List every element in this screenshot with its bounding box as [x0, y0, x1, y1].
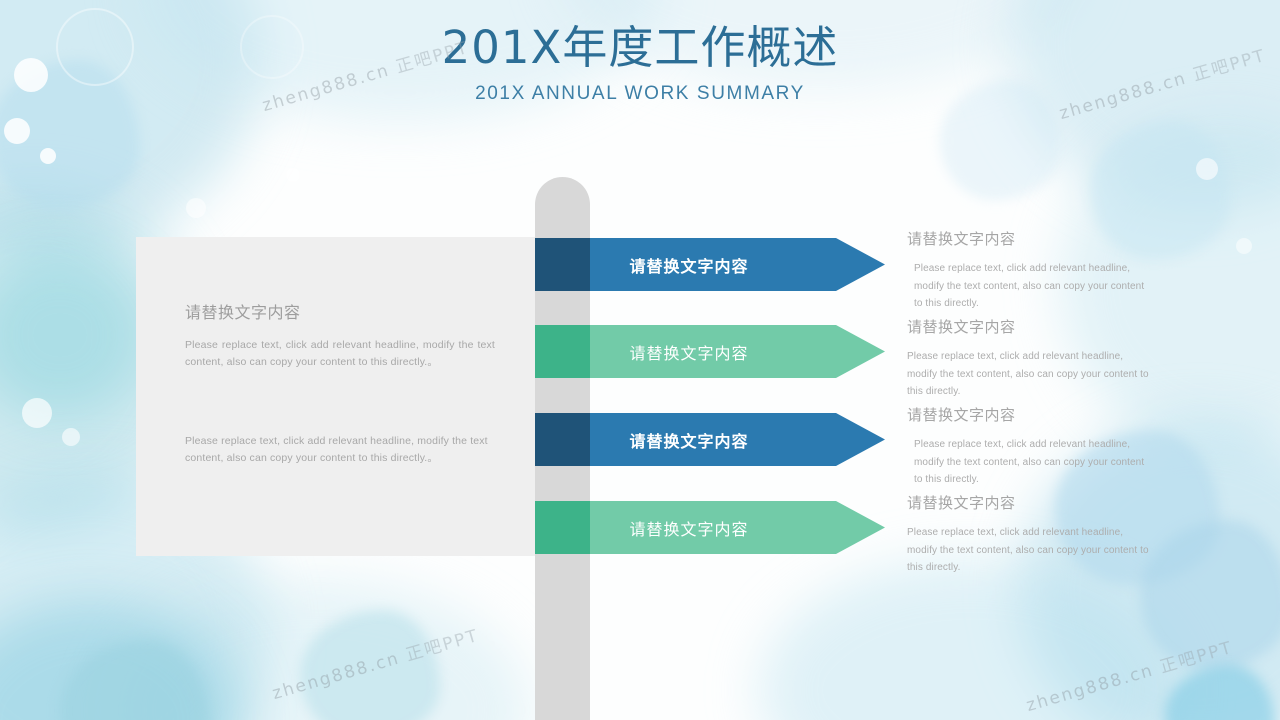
arrow-banner-4[interactable]: 请替换文字内容 [535, 501, 885, 554]
left-text-block-1: 请替换文字内容 Please replace text, click add r… [185, 299, 495, 372]
right-block-3-heading: 请替换文字内容 [907, 404, 1155, 425]
right-block-1-paragraph: Please replace text, click add relevant … [907, 260, 1155, 313]
right-block-2-paragraph: Please replace text, click add relevant … [907, 348, 1155, 401]
right-text-block-2: 请替换文字内容 Please replace text, click add r… [907, 316, 1155, 401]
arrow-banner-2-label: 请替换文字内容 [535, 340, 885, 364]
arrow-banner-4-label: 请替换文字内容 [535, 516, 885, 540]
page-title: 201X年度工作概述 [0, 22, 1280, 74]
left-content-panel: 请替换文字内容 Please replace text, click add r… [136, 237, 536, 556]
right-block-1-heading: 请替换文字内容 [907, 228, 1155, 249]
watermark-bottom-right: zheng888.cn 正吧PPT [1023, 633, 1236, 716]
title-block: 201X年度工作概述 201X ANNUAL WORK SUMMARY [0, 22, 1280, 105]
left-block-2-paragraph: Please replace text, click add relevant … [185, 433, 495, 468]
page-subtitle: 201X ANNUAL WORK SUMMARY [0, 83, 1280, 105]
arrow-banner-1[interactable]: 请替换文字内容 [535, 238, 885, 291]
watermark-brand: 正吧PPT [1158, 638, 1236, 678]
watermark-site: zheng888.cn [270, 648, 402, 704]
right-text-block-4: 请替换文字内容 Please replace text, click add r… [907, 492, 1155, 577]
right-block-4-paragraph: Please replace text, click add relevant … [907, 524, 1155, 577]
left-block-1-heading: 请替换文字内容 [185, 299, 495, 323]
watermark-site: zheng888.cn [1024, 660, 1156, 716]
right-block-2-heading: 请替换文字内容 [907, 316, 1155, 337]
slide-canvas: 201X年度工作概述 201X ANNUAL WORK SUMMARY 请替换文… [0, 0, 1280, 720]
arrow-banner-3[interactable]: 请替换文字内容 [535, 413, 885, 466]
watermark-bottom-left: zheng888.cn 正吧PPT [269, 621, 482, 704]
arrow-banner-2[interactable]: 请替换文字内容 [535, 325, 885, 378]
right-block-4-heading: 请替换文字内容 [907, 492, 1155, 513]
right-text-block-1: 请替换文字内容 Please replace text, click add r… [907, 228, 1155, 313]
watermark-brand: 正吧PPT [404, 626, 482, 666]
left-text-block-2: Please replace text, click add relevant … [185, 433, 495, 468]
left-block-1-paragraph: Please replace text, click add relevant … [185, 337, 495, 372]
right-block-3-paragraph: Please replace text, click add relevant … [907, 436, 1155, 489]
right-text-block-3: 请替换文字内容 Please replace text, click add r… [907, 404, 1155, 489]
arrow-banner-1-label: 请替换文字内容 [535, 253, 885, 277]
arrow-banner-3-label: 请替换文字内容 [535, 428, 885, 452]
